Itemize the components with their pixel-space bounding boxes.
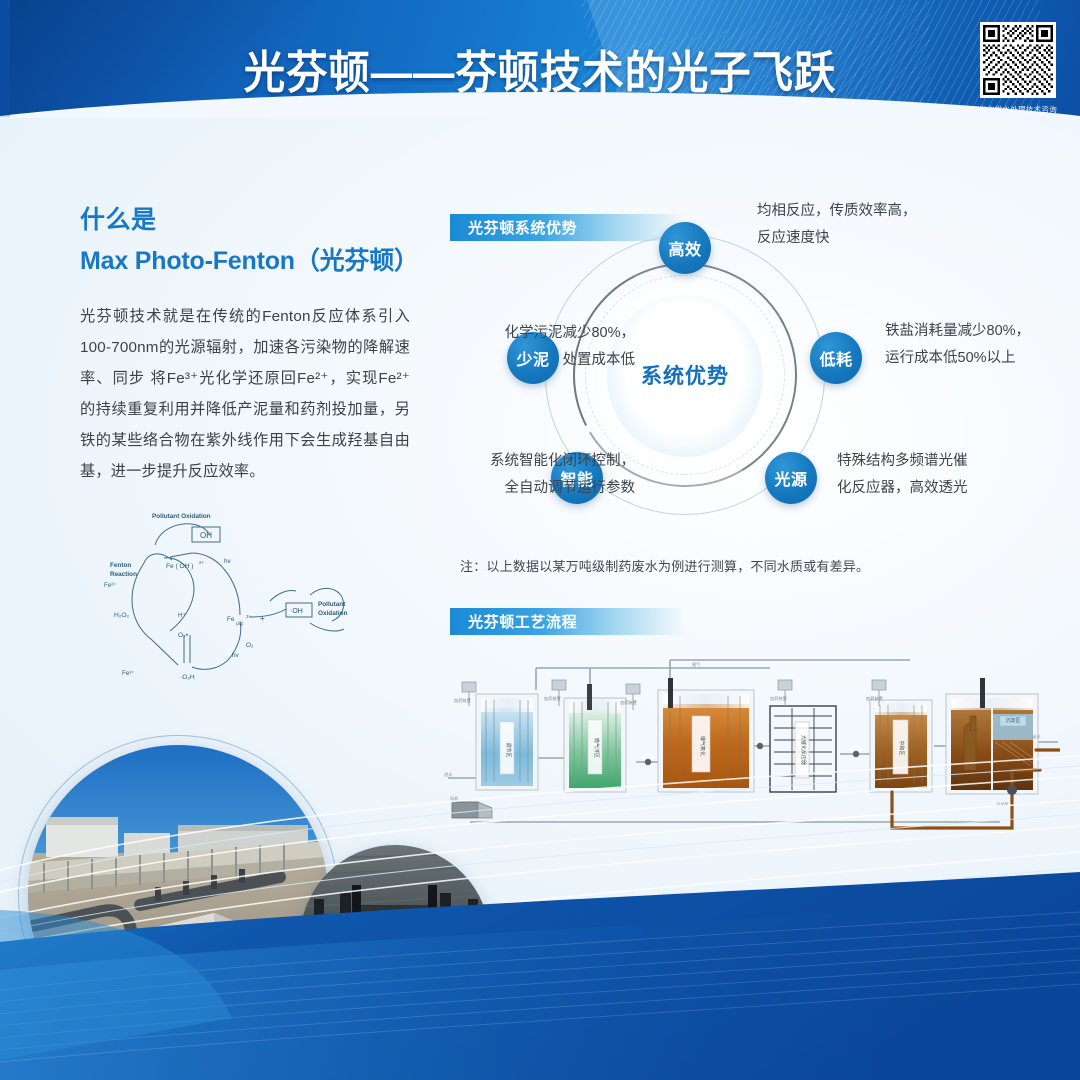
blower-unit bbox=[452, 802, 492, 818]
caption-dihao-line2: 运行成本低50%以上 bbox=[885, 345, 1030, 372]
intro-body-text: 光芬顿技术就是在传统的Fenton反应体系引入100-700nm的光源辐射，加速… bbox=[80, 301, 410, 487]
flow-stage-3: 曝气氧化 bbox=[699, 736, 706, 756]
flow-label-influent: 进水 bbox=[444, 771, 453, 778]
flow-label-dosing-3: 加药装置 bbox=[620, 699, 637, 706]
intro-column: 什么是 Max Photo-Fenton（光芬顿） 光芬顿技术就是在传统的Fen… bbox=[80, 200, 410, 487]
fenton-label-fe-sup: 3+ bbox=[246, 614, 251, 619]
fenton-label-h-plus: H⁺ bbox=[178, 612, 186, 619]
flow-label-dosing-1: 加药装置 bbox=[454, 697, 471, 704]
process-flow-diagram: 加药装置 加药装置 加药装置 加药装置 加药装置 进水 出水 风机 污泥泵 尾气… bbox=[440, 650, 1060, 850]
fenton-label-oh-right: ·OH bbox=[290, 608, 303, 615]
fenton-label-fe3: Fe³⁺ bbox=[122, 670, 135, 677]
fenton-label-plus: + bbox=[260, 614, 265, 623]
caption-guangyuan-line2: 化反应器，高效透光 bbox=[837, 475, 968, 502]
fenton-label-oh-top: OH bbox=[200, 531, 212, 540]
caption-dihao: 铁盐消耗量减少80%， 运行成本低50%以上 bbox=[885, 318, 1030, 372]
fenton-cycle-icon: Pollutant Oxidation OH Fenton Reaction F… bbox=[100, 505, 350, 695]
fenton-label-hv-bottom: hv bbox=[232, 652, 240, 659]
qr-block: 光化学水处理技术咨询 bbox=[970, 22, 1066, 115]
flow-label-blower: 风机 bbox=[450, 795, 459, 802]
flow-stage-2: 微气浮区 bbox=[593, 738, 600, 758]
caption-guangyuan: 特殊结构多频谱光催 化反应器，高效透光 bbox=[837, 448, 968, 502]
fenton-reaction-diagram: Pollutant Oxidation OH Fenton Reaction F… bbox=[100, 505, 350, 695]
process-flow-icon: 加药装置 加药装置 加药装置 加药装置 加药装置 进水 出水 风机 污泥泵 尾气… bbox=[440, 650, 1060, 850]
left-edge-accent bbox=[0, 0, 10, 1080]
wave-dark-icon bbox=[0, 850, 1080, 1080]
caption-shaoni: 化学污泥减少80%， 处置成本低 bbox=[435, 320, 635, 374]
fenton-label-hv-top: hv bbox=[224, 558, 232, 565]
fenton-label-fe-oh-sup: 2+ bbox=[199, 560, 204, 565]
caption-zhineng-line2: 全自动调节运行参数 bbox=[435, 475, 635, 502]
node-dihao[interactable]: 低耗 bbox=[810, 332, 862, 384]
caption-gaoxiao-line2: 反应速度快 bbox=[757, 225, 917, 252]
flow-label-sludge-pump: 污泥泵 bbox=[996, 801, 1009, 808]
tank-sedimentation bbox=[946, 678, 1038, 794]
flow-stage-6: 沉淀区 bbox=[1005, 717, 1020, 724]
infographic-poster: 光芬顿——芬顿技术的光子飞跃 bbox=[0, 0, 1080, 1080]
fenton-label-o2-mid: O₂ bbox=[246, 642, 254, 649]
caption-shaoni-line1: 化学污泥减少80%， bbox=[435, 320, 635, 347]
pump-icon bbox=[1007, 785, 1017, 795]
flow-label-dosing-2: 加药装置 bbox=[544, 695, 561, 702]
fenton-label-ho2: ·O₂H bbox=[180, 674, 195, 681]
caption-guangyuan-line1: 特殊结构多频谱光催 bbox=[837, 448, 968, 475]
section-header-process: 光芬顿工艺流程 bbox=[450, 608, 685, 635]
intro-heading-line1: 什么是 bbox=[80, 200, 410, 236]
flow-stage-1: 调节区 bbox=[505, 742, 512, 757]
caption-gaoxiao: 均相反应，传质效率高， 反应速度快 bbox=[757, 198, 917, 252]
caption-zhineng-line1: 系统智能化闭环控制， bbox=[435, 448, 635, 475]
advantages-circle-diagram: 系统优势 高效 低耗 光源 智能 少泥 均相反应，传质效率高， 反应速度快 铁盐… bbox=[455, 200, 1055, 545]
flow-label-gas: 尾气 bbox=[692, 661, 701, 668]
caption-dihao-line1: 铁盐消耗量减少80%， bbox=[885, 318, 1030, 345]
fenton-label-aq: (aq) bbox=[236, 621, 244, 626]
flow-label-effluent: 出水 bbox=[1032, 733, 1041, 740]
fenton-label-oxidation-right: Oxidation bbox=[318, 610, 348, 617]
node-gaoxiao[interactable]: 高效 bbox=[659, 222, 711, 274]
fenton-label-h2o2: H₂O₂ bbox=[114, 612, 129, 619]
flow-label-dosing-4: 加药装置 bbox=[770, 695, 787, 702]
header-banner: 光芬顿——芬顿技术的光子飞跃 bbox=[0, 0, 1080, 118]
tank-aeration-oxidation bbox=[658, 678, 754, 792]
flow-stage-5: 中和区 bbox=[898, 740, 905, 755]
caption-gaoxiao-line1: 均相反应，传质效率高， bbox=[757, 198, 917, 225]
fenton-label-fe2: Fe²⁺ bbox=[104, 582, 117, 589]
fenton-label-reaction: Reaction bbox=[110, 571, 137, 578]
advantages-note: 注：以上数据以某万吨级制药废水为例进行测算，不同水质或有差异。 bbox=[460, 556, 869, 575]
fenton-label-o2-radical: O₂• bbox=[178, 632, 189, 639]
intro-heading-line2: Max Photo-Fenton（光芬顿） bbox=[80, 241, 410, 277]
fenton-label-fe-aq: Fe bbox=[227, 616, 235, 623]
fenton-label-pollutant-right: Pollutant bbox=[318, 601, 346, 608]
node-guangyuan[interactable]: 光源 bbox=[765, 452, 817, 504]
caption-shaoni-line2: 处置成本低 bbox=[435, 347, 635, 374]
caption-zhineng: 系统智能化闭环控制， 全自动调节运行参数 bbox=[435, 448, 635, 502]
flow-label-dosing-5: 加药装置 bbox=[866, 695, 883, 702]
flow-stage-4: 光催化反应器 bbox=[800, 735, 807, 765]
fenton-label-pollutant-top: Pollutant Oxidation bbox=[152, 513, 211, 520]
fenton-label-fe-oh: Fe ( OH ) bbox=[166, 563, 193, 570]
section-header-process-label: 光芬顿工艺流程 bbox=[450, 611, 577, 632]
background-wave-dark bbox=[0, 850, 1080, 1080]
qr-code-icon bbox=[983, 25, 1053, 95]
fenton-label-fenton: Fenton bbox=[110, 562, 131, 569]
qr-code[interactable] bbox=[980, 22, 1056, 98]
